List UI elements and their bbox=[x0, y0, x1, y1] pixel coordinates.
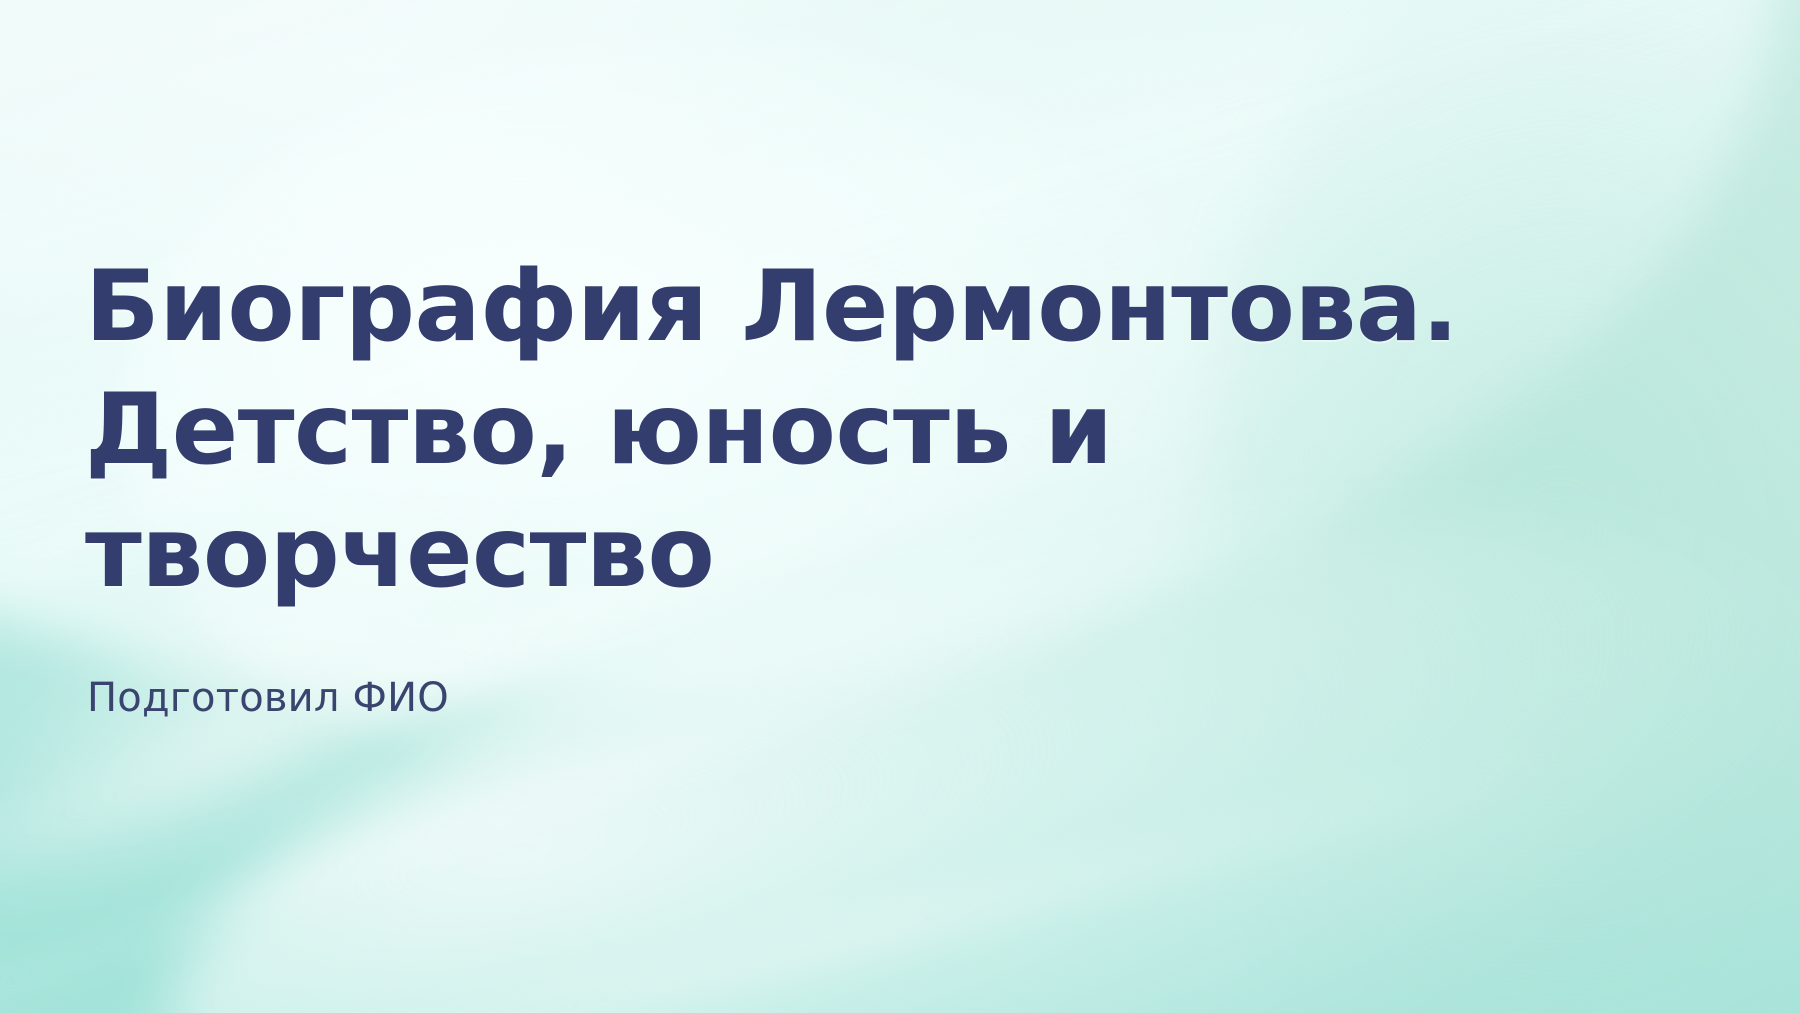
slide-content: Биография Лермонтова. Детство, юность и … bbox=[85, 0, 1725, 1013]
slide-title-line-1: Биография Лермонтова. bbox=[85, 250, 1458, 364]
slide-title-line-2: Детство, юность и bbox=[85, 373, 1113, 487]
slide-title: Биография Лермонтова. Детство, юность и … bbox=[85, 246, 1705, 615]
slide-title-line-3: творчество bbox=[85, 496, 714, 610]
slide-subtitle: Подготовил ФИО bbox=[87, 672, 449, 724]
title-slide: Биография Лермонтова. Детство, юность и … bbox=[0, 0, 1800, 1013]
